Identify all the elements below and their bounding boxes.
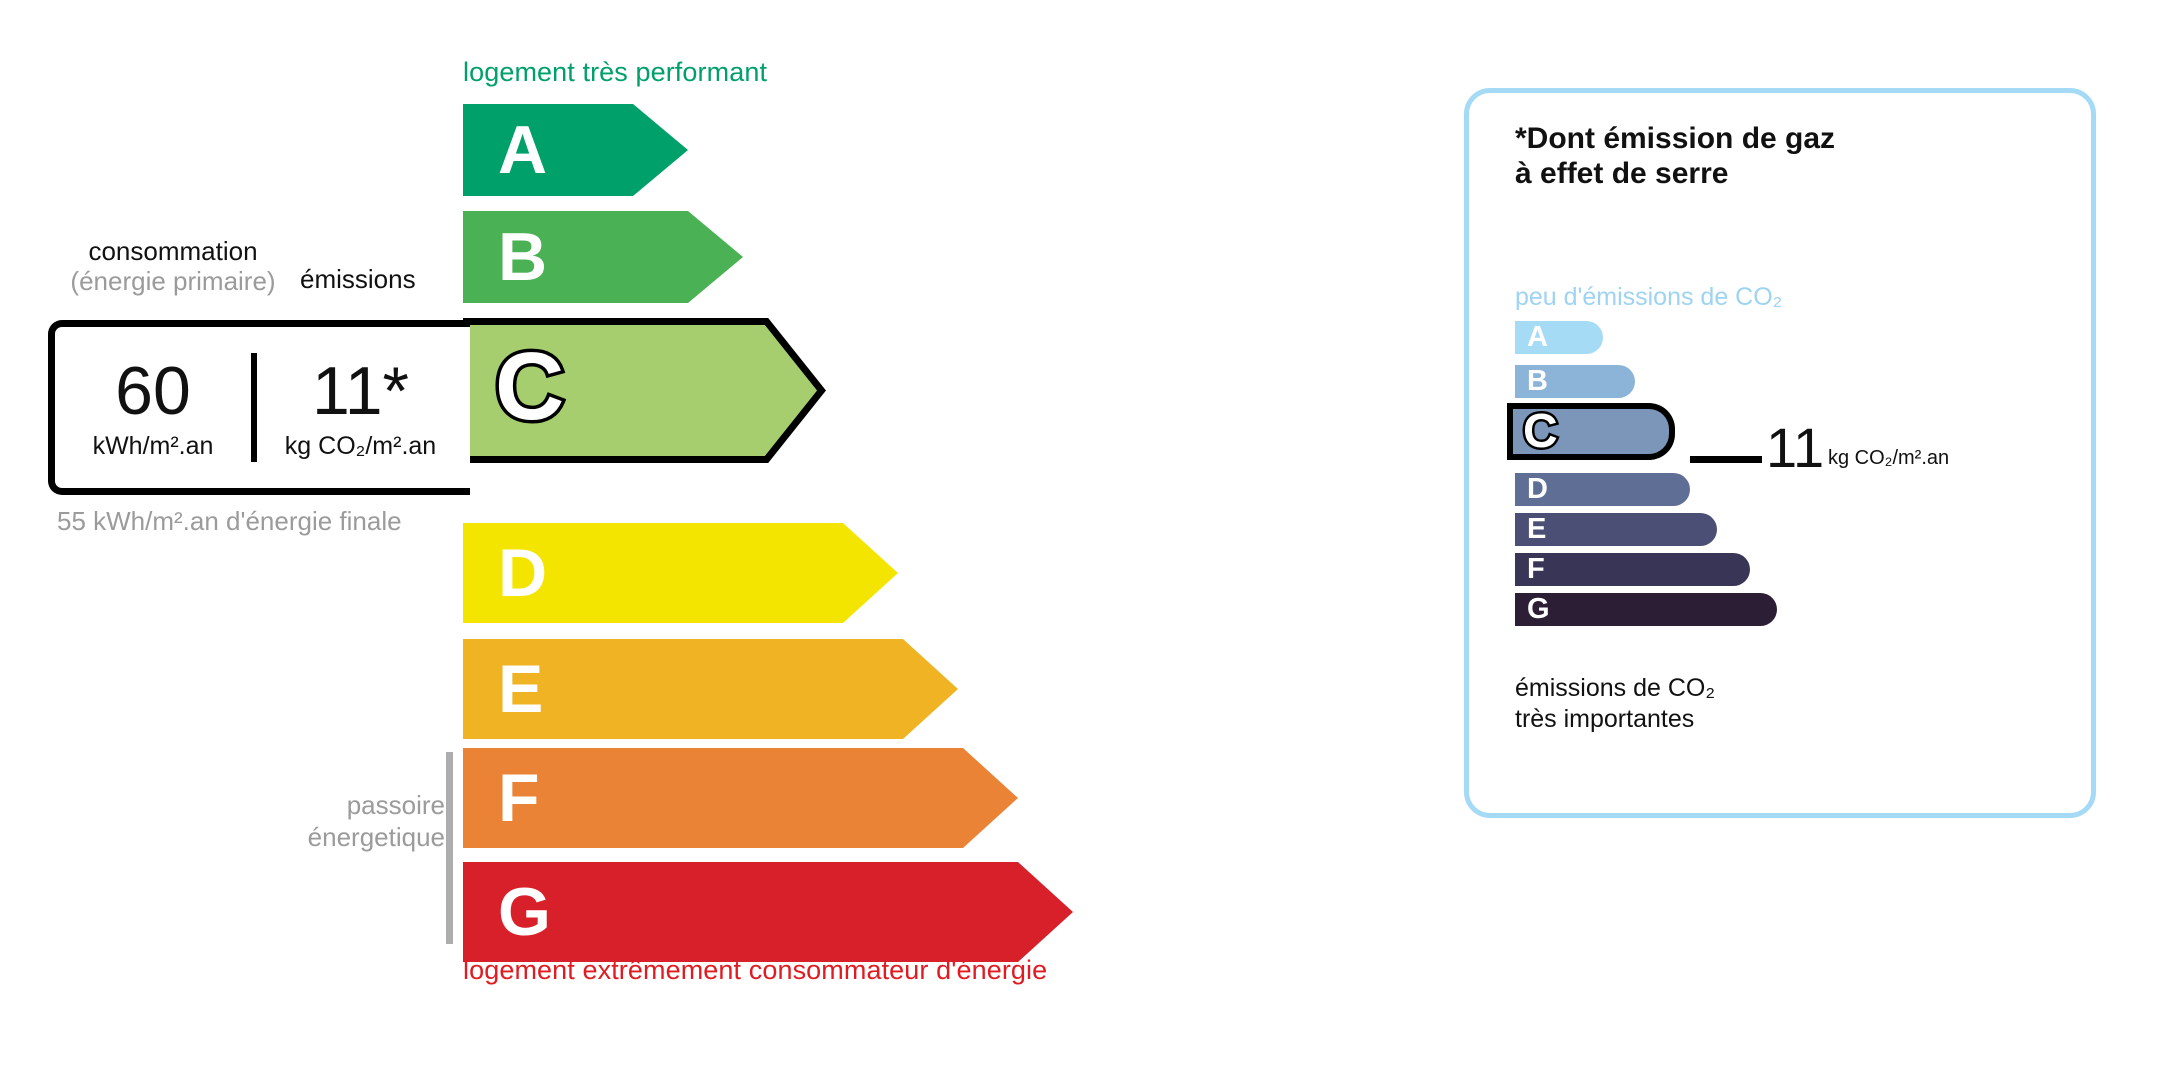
co2-band-c: C <box>1513 403 1675 460</box>
consumption-label-main: consommation <box>88 236 257 266</box>
scale-top-caption: logement très performant <box>463 57 767 88</box>
emissions-unit: kg CO₂/m².an <box>285 434 436 459</box>
energy-band-shape <box>463 104 688 196</box>
dpe-label: logement très performant ABCDEFG logemen… <box>0 0 2169 1079</box>
co2-band-e: E <box>1515 513 1717 546</box>
passoire-bracket <box>446 752 453 944</box>
emissions-cell: 11* kg CO₂/m².an <box>251 327 470 488</box>
energy-band-letter: E <box>498 655 543 723</box>
energy-band-letter: D <box>498 539 547 607</box>
energy-band-a: A <box>463 104 688 196</box>
scale-bottom-caption: logement extrêmement consommateur d'éner… <box>463 955 1047 986</box>
co2-value-unit: kg CO₂/m².an <box>1828 448 1949 468</box>
energy-band-letter: F <box>498 764 540 832</box>
energy-band-f: F <box>463 748 1018 848</box>
co2-band-d: D <box>1515 473 1690 506</box>
co2-band-letter: G <box>1527 595 1550 624</box>
co2-band-a: A <box>1515 321 1603 354</box>
energy-band-letter: C <box>495 339 564 435</box>
energy-band-letter: G <box>498 878 551 946</box>
consumption-label: consommation (énergie primaire) <box>53 236 293 296</box>
co2-top-caption: peu d'émissions de CO₂ <box>1515 283 1782 312</box>
co2-band-letter: E <box>1527 515 1546 544</box>
co2-band-b: B <box>1515 365 1635 398</box>
passoire-energetique-label: passoire énergetique <box>280 790 445 853</box>
co2-band-letter: D <box>1527 475 1548 504</box>
consumption-unit: kWh/m².an <box>93 434 214 459</box>
greenhouse-gas-title: *Dont émission de gaz à effet de serre <box>1515 121 1835 192</box>
energy-band-g: G <box>463 862 1073 962</box>
energy-band-d: D <box>463 523 898 623</box>
co2-value: 11 <box>1766 420 1824 476</box>
emissions-label: émissions <box>300 264 416 295</box>
co2-band-letter: A <box>1527 323 1548 352</box>
consumption-label-sub: (énergie primaire) <box>53 266 293 296</box>
energy-band-e: E <box>463 639 958 739</box>
energy-performance-scale: logement très performant ABCDEFG logemen… <box>0 0 1330 1079</box>
consumption-value: 60 <box>115 357 191 425</box>
energy-band-shape <box>463 748 1018 848</box>
co2-band-letter: C <box>1523 408 1558 456</box>
energy-band-c: C <box>463 318 825 456</box>
co2-connector-line <box>1690 456 1762 463</box>
energy-band-b: B <box>463 211 743 303</box>
consumption-cell: 60 kWh/m².an <box>55 327 251 488</box>
energy-band-letter: B <box>498 223 547 291</box>
energy-band-shape <box>463 862 1073 962</box>
co2-band-f: F <box>1515 553 1750 586</box>
final-energy-note: 55 kWh/m².an d'énergie finale <box>57 505 402 538</box>
energy-band-letter: A <box>498 116 547 184</box>
co2-band-letter: F <box>1527 555 1545 584</box>
co2-band-g: G <box>1515 593 1777 626</box>
co2-band-letter: B <box>1527 367 1548 396</box>
emissions-value: 11* <box>312 357 409 425</box>
co2-bottom-caption: émissions de CO₂ très importantes <box>1515 673 1715 734</box>
value-box: 60 kWh/m².an 11* kg CO₂/m².an <box>48 320 470 495</box>
